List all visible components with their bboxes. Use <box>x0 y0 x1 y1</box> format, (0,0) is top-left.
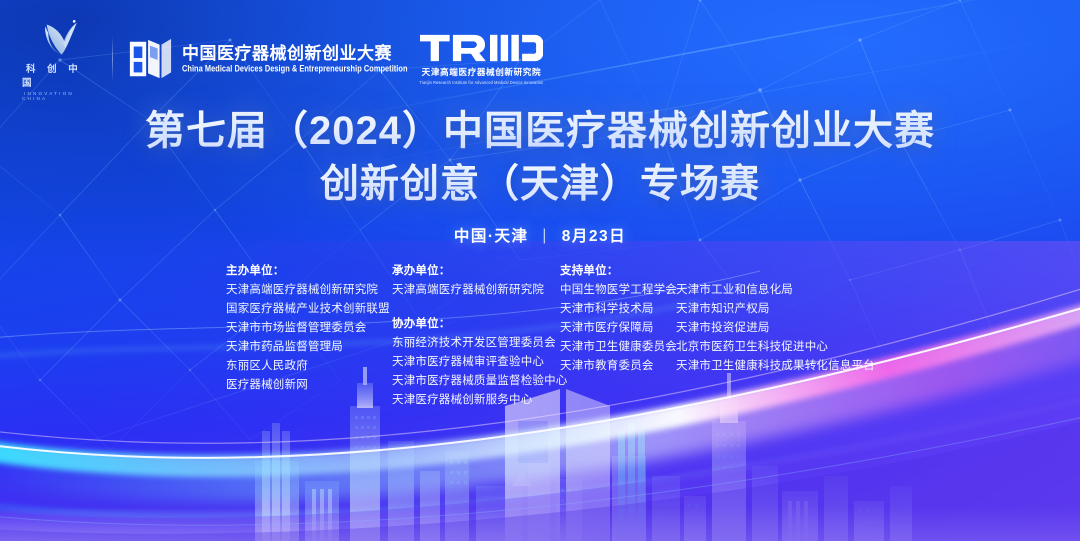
logo-triid-en: Tianjin Research Institute for Advanced … <box>420 79 544 85</box>
organizer-column-4: 天津市工业和信息化局 天津市知识产权局 天津市投资促进局 北京市医药卫生科技促进… <box>676 262 875 410</box>
organizer-heading: 承办单位： <box>392 262 560 281</box>
logo-bar: 科 创 中 国 INNOVATION CHINA 中国医疗器械创新创业大赛 Ch… <box>22 24 543 94</box>
organizer-heading-spacer <box>676 262 875 281</box>
logo-cmd-cn: 中国医疗器械创新创业大赛 <box>182 44 408 64</box>
logo-kechuang-cn: 科 创 中 国 <box>22 61 98 89</box>
organizer-item: 天津市市场监督管理委员会 <box>226 319 392 338</box>
event-banner: 科 创 中 国 INNOVATION CHINA 中国医疗器械创新创业大赛 Ch… <box>0 0 1080 541</box>
organizer-item: 天津高端医疗器械创新研究院 <box>392 281 560 300</box>
organizers-block: 主办单位： 天津高端医疗器械创新研究院 国家医疗器械产业技术创新联盟 天津市市场… <box>226 262 875 410</box>
organizer-item: 天津市卫生健康科技成果转化信息平台 <box>676 357 875 376</box>
organizer-column-3: 支持单位： 中国生物医学工程学会 天津市科学技术局 天津市医疗保障局 天津市卫生… <box>560 262 676 410</box>
logo-triid: 天津高端医疗器械创新研究院 Tianjin Research Institute… <box>420 34 544 85</box>
organizer-item: 国家医疗器械产业技术创新联盟 <box>226 300 392 319</box>
organizer-column-1: 主办单位： 天津高端医疗器械创新研究院 国家医疗器械产业技术创新联盟 天津市市场… <box>226 262 392 410</box>
organizer-item: 天津市医疗保障局 <box>560 319 676 338</box>
logo-kechuang-zhongguo: 科 创 中 国 INNOVATION CHINA <box>22 18 98 101</box>
organizer-item: 天津市投资促进局 <box>676 319 875 338</box>
subtitle-line: 中国·天津 | 8月23日 <box>0 224 1080 246</box>
organizer-item: 中国生物医学工程学会 <box>560 281 676 300</box>
title-block: 第七届（2024）中国医疗器械创新创业大赛 创新创意（天津）专场赛 中国·天津 … <box>0 104 1080 246</box>
subtitle-separator: | <box>542 227 548 245</box>
logo-cmd-en: China Medical Devices Design & Entrepren… <box>182 65 408 75</box>
logo-kechuang-en: INNOVATION CHINA <box>22 91 98 101</box>
organizer-group: 协办单位： 东丽经济技术开发区管理委员会 天津市医疗器械审评查验中心 天津市医疗… <box>392 315 560 410</box>
organizer-item: 医疗器械创新网 <box>226 376 392 395</box>
organizer-item: 天津市工业和信息化局 <box>676 281 875 300</box>
organizer-group: 主办单位： 天津高端医疗器械创新研究院 国家医疗器械产业技术创新联盟 天津市市场… <box>226 262 392 395</box>
organizer-group: 支持单位： 中国生物医学工程学会 天津市科学技术局 天津市医疗保障局 天津市卫生… <box>560 262 676 376</box>
organizer-item: 天津市教育委员会 <box>560 357 676 376</box>
organizer-column-2: 承办单位： 天津高端医疗器械创新研究院 协办单位： 东丽经济技术开发区管理委员会… <box>392 262 560 410</box>
organizer-item: 天津市科学技术局 <box>560 300 676 319</box>
organizer-group: 天津市工业和信息化局 天津市知识产权局 天津市投资促进局 北京市医药卫生科技促进… <box>676 262 875 376</box>
triid-wordmark-icon <box>420 34 544 62</box>
organizer-item: 天津市药品监督管理局 <box>226 338 392 357</box>
organizer-group: 承办单位： 天津高端医疗器械创新研究院 <box>392 262 560 300</box>
organizer-item: 天津市知识产权局 <box>676 300 875 319</box>
subtitle-date: 8月23日 <box>562 228 626 245</box>
logo-china-medical-devices-competition: 中国医疗器械创新创业大赛 China Medical Devices Desig… <box>127 36 408 82</box>
organizer-item: 天津医疗器械创新服务中心 <box>392 391 560 410</box>
logo-triid-cn: 天津高端医疗器械创新研究院 <box>422 66 542 78</box>
organizer-item: 天津市医疗器械质量监督检验中心 <box>392 372 560 391</box>
organizer-heading: 支持单位： <box>560 262 676 281</box>
subtitle-location: 中国·天津 <box>454 228 529 245</box>
organizer-heading: 主办单位： <box>226 262 392 281</box>
organizer-item: 天津市卫生健康委员会 <box>560 338 676 357</box>
organizer-item: 天津市医疗器械审评查验中心 <box>392 353 560 372</box>
title-line-1: 第七届（2024）中国医疗器械创新创业大赛 <box>0 104 1080 158</box>
organizer-heading: 协办单位： <box>392 315 560 334</box>
open-book-icon <box>127 36 173 82</box>
organizer-item: 天津高端医疗器械创新研究院 <box>226 281 392 300</box>
organizer-item: 东丽经济技术开发区管理委员会 <box>392 334 560 353</box>
organizer-item: 东丽区人民政府 <box>226 357 392 376</box>
wing-bird-icon <box>35 18 85 58</box>
logo-divider <box>112 36 113 82</box>
title-line-2: 创新创意（天津）专场赛 <box>0 158 1080 212</box>
organizer-item: 北京市医药卫生科技促进中心 <box>676 338 875 357</box>
